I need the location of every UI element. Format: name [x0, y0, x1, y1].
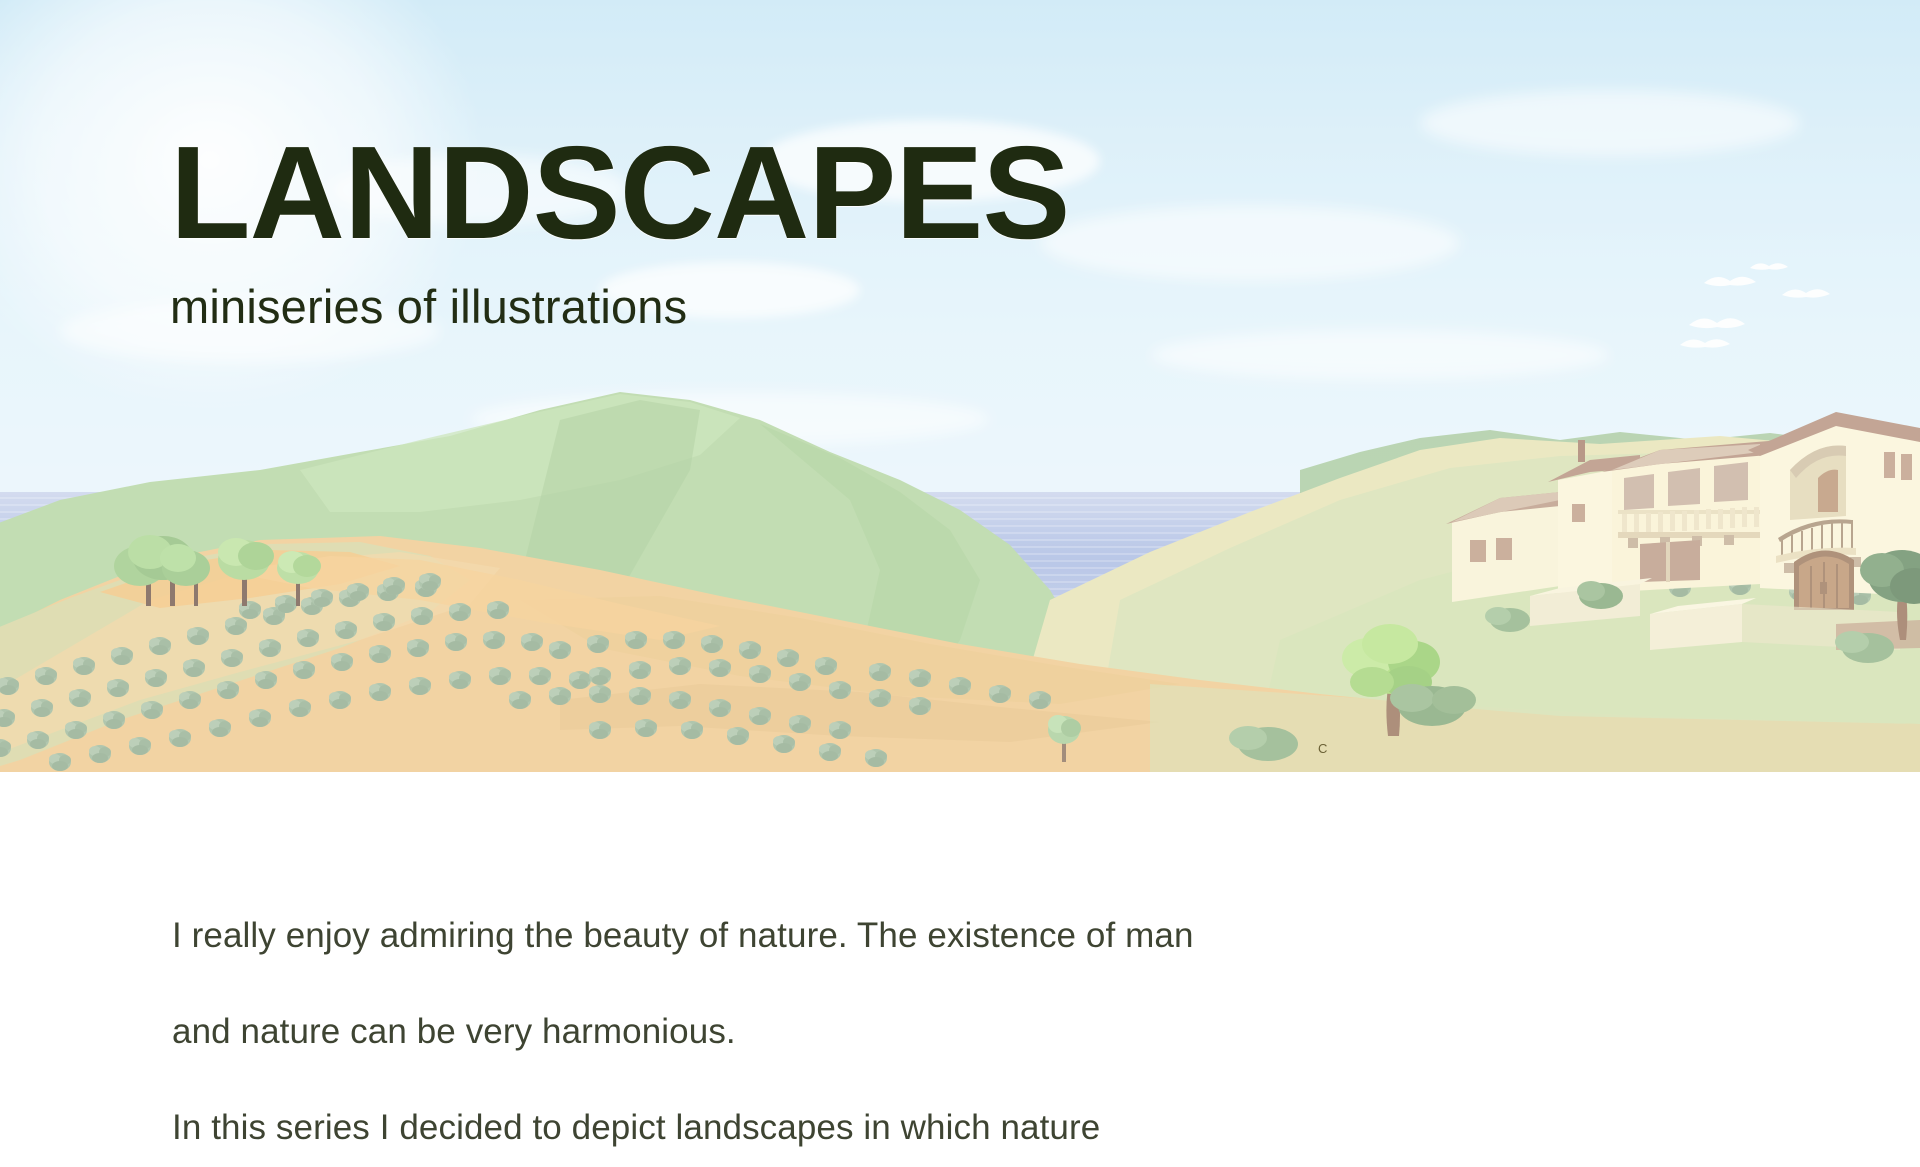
title-block: LANDSCAPES miniseries of illustrations [170, 128, 1069, 334]
page-subtitle: miniseries of illustrations [170, 279, 1069, 334]
villa [0, 0, 1920, 772]
hero-illustration [0, 0, 1920, 772]
description-paragraph: I really enjoy admiring the beauty of na… [172, 864, 1318, 1167]
page-title: LANDSCAPES [170, 128, 1069, 257]
description-line-1: I really enjoy admiring the beauty of na… [172, 912, 1318, 960]
watermark-text: C [1318, 742, 1346, 770]
villa-gallery [1602, 440, 1780, 592]
description-line-3: In this series I decided to depict lands… [172, 1104, 1318, 1152]
poster-page: LANDSCAPES miniseries of illustrations C… [0, 0, 1920, 1167]
description-line-2: and nature can be very harmonious. [172, 1008, 1318, 1056]
